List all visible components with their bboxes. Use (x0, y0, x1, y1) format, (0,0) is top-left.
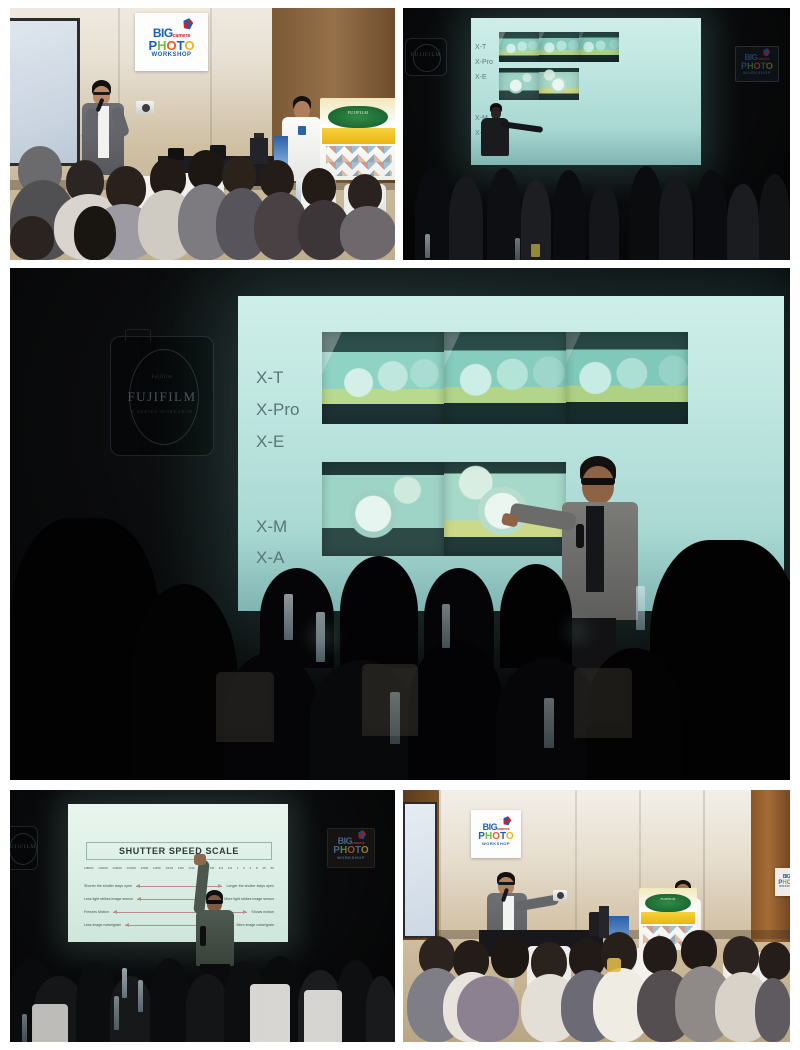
shutter-speed-comparison-row: Freezes MotionShows motion (84, 910, 274, 914)
slide-title-box: SHUTTER SPEED SCALE (86, 842, 272, 860)
panel-bottom-left: FUJIFILM BIGcamera PHOTO WORKSHOP SHUTTE… (10, 790, 395, 1042)
shutter-speed-value: 4 (249, 866, 251, 870)
double-arrow-icon (136, 886, 222, 887)
fujifilm-wall-sign: FUJIFILM (10, 826, 38, 870)
slide-camera-image (499, 32, 539, 62)
comparison-left-label: Freezes Motion (84, 910, 109, 914)
shutter-icon (182, 17, 194, 30)
comparison-right-label: Longer the shutter stays open (226, 884, 274, 888)
logo-workshop-text: WORKSHOP (148, 52, 194, 58)
shutter-speed-scale-row: 1/80001/40001/20001/10001/5001/2501/1251… (84, 866, 274, 870)
shutter-speed-value: 1/2000 (112, 866, 121, 870)
projection-screen (403, 802, 437, 938)
shutter-speed-value: 1 (237, 866, 239, 870)
shutter-speed-value: 1/60 (178, 866, 184, 870)
camera-prop (553, 890, 567, 901)
camera-viewfinder-icon (125, 329, 151, 341)
slide-label-xe: X-E (256, 432, 284, 452)
banner-photo-grid (326, 146, 392, 176)
eyeglasses-icon (93, 92, 110, 95)
panel-center-large: Fujifilm FUJIFILM X SERIES WORKSHOP X-T … (10, 268, 790, 780)
eyeglasses-icon (498, 882, 515, 885)
fujifilm-wall-sign: FUJIFILM (405, 38, 447, 76)
logo-photo-text: PHOTO (148, 39, 194, 52)
slide-dial-image (539, 68, 579, 100)
workshop-logo-board: BIGcamera PHOTO WORKSHOP (135, 13, 208, 71)
banner-fujifilm-text: FUJIFILM (330, 110, 386, 115)
shutter-speed-comparison-row: Less light strikes image sensorMore ligh… (84, 897, 274, 901)
comparison-left-label: Less image noise/grain (84, 923, 121, 927)
slide-dial-image (499, 68, 539, 100)
slide-label-xe: X-E (475, 74, 487, 81)
attendee-white-shirt (250, 984, 290, 1042)
slide-label-xpro: X-Pro (256, 400, 299, 420)
slide-camera-image (579, 32, 619, 62)
shutter-speed-value: 1/2 (228, 866, 232, 870)
microphone-icon (576, 524, 584, 548)
slide-label-xm: X-M (256, 517, 287, 537)
poster-stand (250, 138, 268, 164)
shutter-speed-value: 1/125 (165, 866, 173, 870)
handheld-object (607, 958, 621, 972)
slide-camera-image (566, 332, 688, 424)
photo-collage: BIGcamera PHOTO WORKSHOP (0, 0, 800, 1050)
logo-big-text: BIG (153, 26, 173, 40)
slide-dial-image (322, 462, 444, 556)
shutter-speed-value: 30 (270, 866, 273, 870)
shutter-speed-slide: SHUTTER SPEED SCALE 1/80001/40001/20001/… (68, 804, 288, 942)
shutter-speed-value: 1/1000 (126, 866, 135, 870)
comparison-right-label: More light strikes image sensor (224, 897, 274, 901)
panel-bottom-right: BIGcamera PHOTO WORKSHOP BIGcam PHOTO WO… (403, 790, 790, 1042)
shutter-speed-value: 1/4000 (98, 866, 107, 870)
banner-yellow-strip (641, 912, 695, 924)
shirt-logo (298, 126, 306, 135)
raised-hand (194, 854, 206, 865)
camera-prop (136, 101, 154, 114)
comparison-right-label: Shows motion (251, 910, 274, 914)
slide-label-xt: X-T (256, 368, 283, 388)
workshop-logo-board-small: BIGcam PHOTO WORKSHOP (775, 868, 790, 896)
shutter-speed-comparison-rows: Shorter the shutter stays openLonger the… (84, 884, 274, 936)
logo-camera-text: camera (173, 33, 191, 39)
slide-label-xpro: X-Pro (475, 59, 493, 66)
slide-title: SHUTTER SPEED SCALE (119, 846, 239, 856)
workshop-wall-sign: BIGcamera PHOTO WORKSHOP (735, 46, 779, 82)
shutter-speed-value: 1/4 (219, 866, 223, 870)
fujifilm-banner: FUJIFILM (320, 98, 395, 180)
shutter-speed-value: 1/500 (141, 866, 149, 870)
shutter-speed-comparison-row: Less image noise/grainMore image noise/g… (84, 923, 274, 927)
workshop-wall-sign: BIGcamera PHOTO WORKSHOP (327, 828, 375, 868)
attendee-white-shirt (304, 990, 342, 1042)
shutter-speed-comparison-row: Shorter the shutter stays openLonger the… (84, 884, 274, 888)
comparison-left-label: Less light strikes image sensor (84, 897, 133, 901)
shutter-speed-value: 2 (243, 866, 245, 870)
eyeglasses-icon (581, 478, 615, 485)
cup-object (531, 244, 540, 257)
slide-camera-image (444, 332, 566, 424)
shutter-speed-value: 1/30 (188, 866, 194, 870)
shutter-speed-value: 1/250 (153, 866, 161, 870)
panel-top-left: BIGcamera PHOTO WORKSHOP (10, 8, 395, 260)
eyeglasses-icon (206, 900, 223, 904)
shutter-speed-value: 1/8 (210, 866, 214, 870)
attendee-white-shirt (32, 1004, 68, 1042)
slide-label-xa: X-A (256, 548, 284, 568)
fujifilm-camera-logo: Fujifilm FUJIFILM X SERIES WORKSHOP (110, 336, 214, 456)
banner-yellow-strip (322, 128, 395, 144)
projection-screen (10, 18, 80, 166)
shutter-speed-value: 1/8000 (84, 866, 93, 870)
panel-top-right: FUJIFILM BIGcamera PHOTO WORKSHOP X-T X-… (403, 8, 790, 260)
workshop-logo-board: BIGcamera PHOTO WORKSHOP (471, 810, 521, 858)
microphone-icon (200, 926, 206, 946)
comparison-right-label: More image noise/grain (236, 923, 274, 927)
comparison-left-label: Shorter the shutter stays open (84, 884, 132, 888)
shutter-speed-value: 8 (256, 866, 258, 870)
shutter-speed-value: 15 (262, 866, 265, 870)
speaker-shirt (98, 106, 109, 158)
slide-camera-image (539, 32, 579, 62)
wood-wall-section (751, 790, 790, 942)
slide-label-xt: X-T (475, 44, 486, 51)
slide-camera-image (322, 332, 444, 424)
speaker-inner-shirt (586, 506, 604, 592)
banner-fujifilm-text: FUJIFILM (647, 897, 689, 901)
tripod-icon (599, 906, 609, 938)
